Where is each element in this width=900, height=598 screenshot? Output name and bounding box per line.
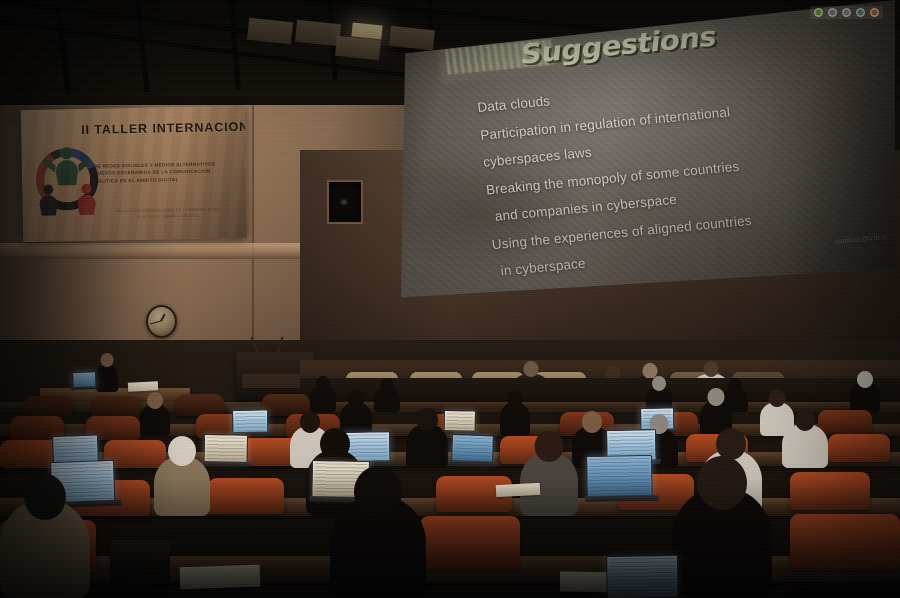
banner-footer-line-1: PALACIO DE CONVENCIONES DE LA HABANA, CU… [99, 206, 237, 215]
banner-title: II TALLER INTERNACIONAL [81, 120, 239, 137]
banner-subtitle-line-1: DE REDES SOCIALES Y MEDIOS ALTERNATIVOS [94, 160, 242, 170]
audience-chair-a3 [176, 394, 224, 416]
audience-person-c2 [406, 424, 448, 468]
wall-banner: II TALLER INTERNACIONAL DE REDES SOCIALE… [21, 106, 247, 242]
panelist-1-head [524, 361, 539, 377]
audience-chair-a1 [24, 396, 72, 418]
wall-clock [146, 305, 177, 338]
status-dot-grey-a-icon [828, 8, 837, 17]
projection-booth-window [327, 180, 363, 224]
status-dot-green-icon [814, 8, 823, 17]
audience-person-e1 [0, 500, 90, 598]
panelist-4-head [704, 361, 719, 377]
banner-subtitle-line-2: NUEVOS ESCENARIOS DE LA COMUNICACION [94, 167, 242, 177]
booth-glint [341, 200, 347, 204]
banner-footer-line-2: 11 AL 13 DE FEBRERO DE 2013 [99, 212, 237, 221]
audience-person-c5 [782, 424, 828, 468]
audience-person-a1 [310, 386, 336, 412]
audience-person-a2 [374, 388, 400, 412]
audience-chair-d2 [208, 478, 284, 514]
audience-person-b3 [500, 402, 530, 436]
status-dot-teal-icon [856, 8, 865, 17]
side-table-attendee [96, 364, 118, 392]
audience-person-a5 [850, 382, 880, 412]
banner-footer: PALACIO DE CONVENCIONES DE LA HABANA, CU… [99, 206, 237, 221]
banner-subtitle: DE REDES SOCIALES Y MEDIOS ALTERNATIVOS … [94, 160, 242, 185]
audience-paper-d1 [496, 483, 541, 497]
audience-chair-c6 [828, 434, 890, 462]
three-figures-circle-logo [35, 139, 99, 222]
audience-person-d1 [154, 456, 210, 516]
audience-person-e2 [330, 496, 426, 598]
audience-chair-b8 [818, 410, 872, 434]
audience-paper-e1 [180, 565, 261, 590]
banner-subtitle-line-3: POLITICA EN EL AMBITO DIGITAL [94, 175, 242, 185]
audience-chair-e3 [790, 514, 900, 570]
audience-person-e3 [672, 488, 772, 598]
audience-chair-d5 [790, 472, 870, 510]
audience-person-b1 [140, 404, 170, 436]
side-table-paper [128, 381, 158, 392]
audience-chair-e2 [420, 516, 520, 570]
status-dot-orange-icon [870, 8, 879, 17]
projection-screen: Suggestions Data clouds Participation in… [375, 0, 895, 305]
slide-status-icons [810, 6, 883, 19]
audience-bag [110, 540, 170, 584]
audience-chair-a2 [92, 396, 140, 418]
conference-hall-photo: II TALLER INTERNACIONAL DE REDES SOCIALE… [0, 0, 900, 598]
status-dot-grey-b-icon [842, 8, 851, 17]
screen-vignette [375, 0, 895, 305]
